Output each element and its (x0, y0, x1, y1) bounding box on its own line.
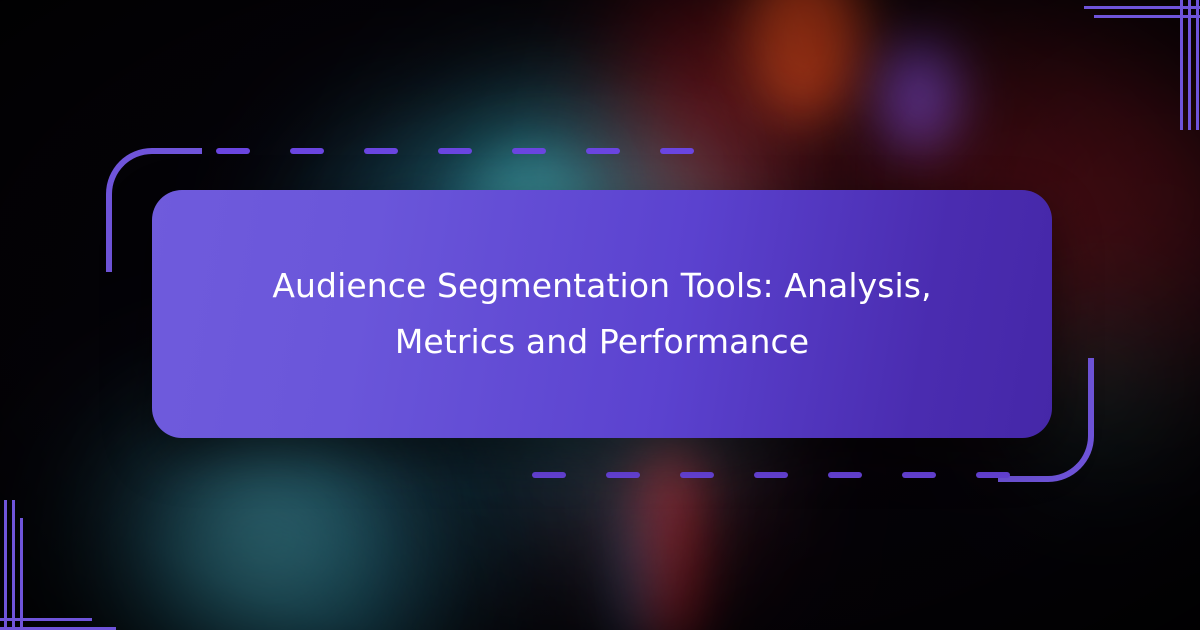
dash-segment (754, 472, 788, 478)
corner-line (1196, 0, 1199, 130)
bg-blob-violet-dot (880, 40, 960, 150)
dashed-line-bottom (532, 472, 1010, 478)
page-title: Audience Segmentation Tools: Analysis, M… (222, 258, 982, 370)
dash-segment (828, 472, 862, 478)
corner-ornament-top-right (1050, 0, 1200, 130)
headline-card: Audience Segmentation Tools: Analysis, M… (152, 190, 1052, 438)
corner-line (1180, 0, 1183, 130)
corner-ornament-bottom-left (0, 500, 150, 630)
corner-line (1188, 0, 1191, 130)
dash-segment (216, 148, 250, 154)
corner-line (12, 500, 15, 630)
dash-segment (680, 472, 714, 478)
dash-segment (438, 148, 472, 154)
dash-segment (364, 148, 398, 154)
dashed-line-top (216, 148, 694, 154)
dash-segment (976, 472, 1010, 478)
corner-line (1084, 6, 1200, 9)
dash-segment (902, 472, 936, 478)
dash-segment (586, 148, 620, 154)
poster-canvas: Audience Segmentation Tools: Analysis, M… (0, 0, 1200, 630)
corner-line (4, 500, 7, 630)
corner-line (20, 518, 23, 630)
dash-segment (532, 472, 566, 478)
corner-line (1094, 15, 1200, 18)
corner-line (0, 618, 92, 621)
dash-segment (512, 148, 546, 154)
dash-segment (606, 472, 640, 478)
dash-segment (660, 148, 694, 154)
dash-segment (290, 148, 324, 154)
